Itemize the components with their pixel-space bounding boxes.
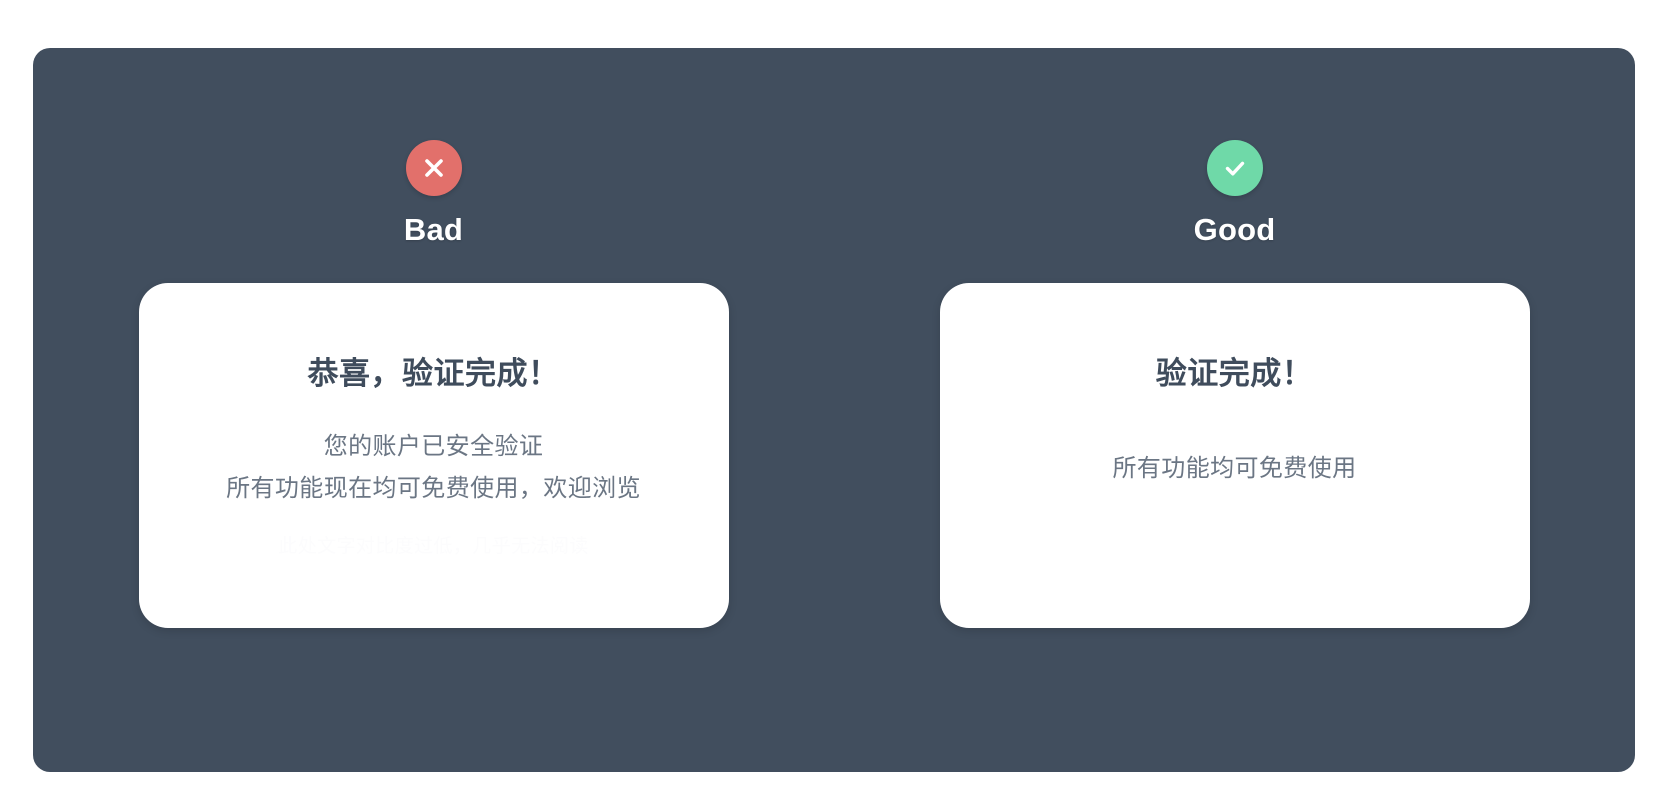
result-card-bad: 恭喜，验证完成！ 您的账户已安全验证 所有功能现在均可免费使用，欢迎浏览 此处文…: [139, 283, 729, 628]
card-body-line: 所有功能现在均可免费使用，欢迎浏览: [175, 468, 693, 510]
badge-label-good: Good: [1194, 214, 1276, 245]
comparison-column-bad: Bad 恭喜，验证完成！ 您的账户已安全验证 所有功能现在均可免费使用，欢迎浏览…: [33, 48, 834, 772]
x-circle-icon: [406, 140, 462, 196]
card-body-line: 您的账户已安全验证: [175, 426, 693, 468]
badge-label-bad: Bad: [404, 214, 463, 245]
card-body-line: 所有功能均可免费使用: [976, 448, 1494, 490]
card-body-low-contrast-line-bad: 此处文字对比度过低，几乎无法阅读: [175, 532, 693, 562]
check-circle-icon: [1207, 140, 1263, 196]
card-body-bad: 您的账户已安全验证 所有功能现在均可免费使用，欢迎浏览: [175, 426, 693, 510]
comparison-columns: Bad 恭喜，验证完成！ 您的账户已安全验证 所有功能现在均可免费使用，欢迎浏览…: [33, 48, 1635, 772]
card-heading-bad: 恭喜，验证完成！: [175, 355, 693, 394]
comparison-panel: Bad 恭喜，验证完成！ 您的账户已安全验证 所有功能现在均可免费使用，欢迎浏览…: [33, 48, 1635, 772]
card-heading-good: 验证完成！: [976, 355, 1494, 394]
card-body-good: 所有功能均可免费使用: [976, 448, 1494, 490]
result-card-good: 验证完成！ 所有功能均可免费使用: [940, 283, 1530, 628]
comparison-column-good: Good 验证完成！ 所有功能均可免费使用: [834, 48, 1635, 772]
